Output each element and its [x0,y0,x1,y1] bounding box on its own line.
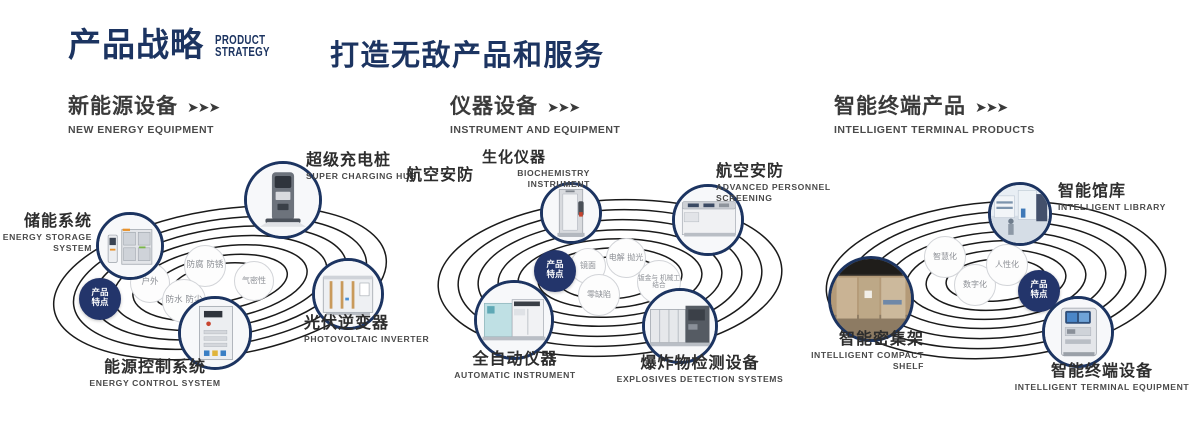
product-label-cn: 能源控制系统 [60,358,250,376]
chevron-right-icon: ➤➤➤ [547,100,579,114]
explosives-detector-icon [645,291,715,361]
product-label-cn: 全自动仪器 [430,350,600,368]
product-circle-automatic-instrument[interactable] [474,280,554,360]
section-title-en: INTELLIGENT TERMINAL PRODUCTS [834,124,1035,136]
product-label-en: INTELLIGENT TERMINAL EQUIPMENT [1004,382,1200,393]
section-title-cn: 智能终端产品 [834,96,966,117]
feature-bubble-label: 户外 [141,278,158,288]
feature-bubble: 气密性 [234,261,274,301]
product-label-energy-control: 能源控制系统 ENERGY CONTROL SYSTEM [60,358,250,389]
product-circle-terminal-equipment[interactable] [1042,296,1114,368]
page-title-en-line1: PRODUCT [215,34,270,47]
product-label-en: EXPLOSIVES DETECTION SYSTEMS [600,374,800,385]
product-label-en: ENERGY CONTROL SYSTEM [60,378,250,389]
smart-library-room-icon [991,185,1049,243]
page-title: 产品战略 PRODUCT STRATEGY [68,28,285,61]
section-title-en: INSTRUMENT AND EQUIPMENT [450,124,620,136]
product-circle-smart-library[interactable] [988,182,1052,246]
feature-bubble-label: 零缺陷 [587,291,611,300]
chevron-right-icon: ➤➤➤ [187,100,219,114]
feature-bubble-label: 钣金与 机械工结合 [638,275,680,290]
product-label-automatic-instrument: 全自动仪器 AUTOMATIC INSTRUMENT [430,350,600,381]
product-label-compact-shelf: 智能密集架 INTELLIGENT COMPACT SHELF [772,330,924,372]
product-label-terminal-equipment: 智能终端设备 INTELLIGENT TERMINAL EQUIPMENT [1004,362,1200,393]
product-label-smart-library: 智能馆库 INTELLIGENT LIBRARY [1058,182,1200,213]
product-circle-energy-storage[interactable] [96,212,164,280]
feature-bubble-label: 电解 抛光 [609,254,644,263]
product-label-energy-storage: 储能系统 ENERGY STORAGE SYSTEM [0,212,92,254]
section-header-instrument: 仪器设备 ➤➤➤ INSTRUMENT AND EQUIPMENT [450,96,620,136]
feature-bubble-label: 人性化 [995,261,1019,270]
core-bubble-label: 产品特点 [91,289,108,308]
cluster-intelligent-terminal: 智慧化 数字化 人性化 产品特点 [800,150,1200,400]
product-label-cn: 生化仪器 [482,149,590,166]
product-circle-biochemistry[interactable] [540,182,602,244]
page-title-en-line2: STRATEGY [215,46,270,59]
chevron-right-icon: ➤➤➤ [975,100,1007,114]
feature-bubble-label: 智慧化 [933,253,957,262]
feature-bubble-label: 数字化 [963,281,987,290]
core-bubble-label: 产品特点 [1030,281,1047,300]
section-title-cn: 新能源设备 [68,96,178,117]
self-service-kiosk-icon [1045,299,1111,365]
product-strategy-infographic: 产品战略 PRODUCT STRATEGY 打造无敌产品和服务 新能源设备 ➤➤… [0,0,1200,422]
core-bubble-label: 产品特点 [546,261,563,280]
feature-bubble-label: 镜面 [580,262,596,271]
automatic-analyzer-icon [477,283,551,357]
product-label-biochemistry: 生化仪器 BIOCHEMISTRY INSTRUMENT [470,149,590,190]
cluster-instrument: 镜面 电解 抛光 零缺陷 钣金与 机械工结合 产品特点 [410,150,810,400]
page-subtitle: 打造无敌产品和服务 [330,32,605,74]
compact-shelf-icon [831,259,911,339]
feature-bubble: 零缺陷 [578,274,620,316]
product-label-cn: 智能终端设备 [1004,362,1200,380]
product-label-en: INTELLIGENT COMPACT SHELF [772,350,924,371]
energy-storage-cabinet-icon [99,215,161,277]
product-label-cn: 智能密集架 [772,330,924,348]
cluster-new-energy: 防腐 防锈 户外 防水 防尘 气密性 产品特点 [20,150,420,400]
page-title-en: PRODUCT STRATEGY [215,34,270,60]
section-title-en: NEW ENERGY EQUIPMENT [68,124,219,136]
biochemistry-scanner-icon [543,185,599,241]
product-label-en: INTELLIGENT LIBRARY [1058,202,1200,213]
product-label-explosives-detection: 爆炸物检测设备 EXPLOSIVES DETECTION SYSTEMS [600,354,800,385]
product-label-cn: 储能系统 [0,212,92,230]
feature-bubble-label: 气密性 [242,277,266,286]
feature-bubble-label: 防腐 防锈 [187,261,224,271]
product-label-en: ENERGY STORAGE SYSTEM [0,232,92,253]
product-label-en: AUTOMATIC INSTRUMENT [430,370,600,381]
product-label-cn: 智能馆库 [1058,182,1200,200]
section-title-cn: 仪器设备 [450,96,538,117]
page-title-cn: 产品战略 [68,28,204,61]
product-label-en: BIOCHEMISTRY INSTRUMENT [470,168,590,189]
product-label-cn: 爆炸物检测设备 [600,354,800,372]
core-bubble-product-features: 产品特点 [79,278,121,320]
section-header-new-energy: 新能源设备 ➤➤➤ NEW ENERGY EQUIPMENT [68,96,219,136]
section-header-intelligent-terminal: 智能终端产品 ➤➤➤ INTELLIGENT TERMINAL PRODUCTS [834,96,1035,136]
